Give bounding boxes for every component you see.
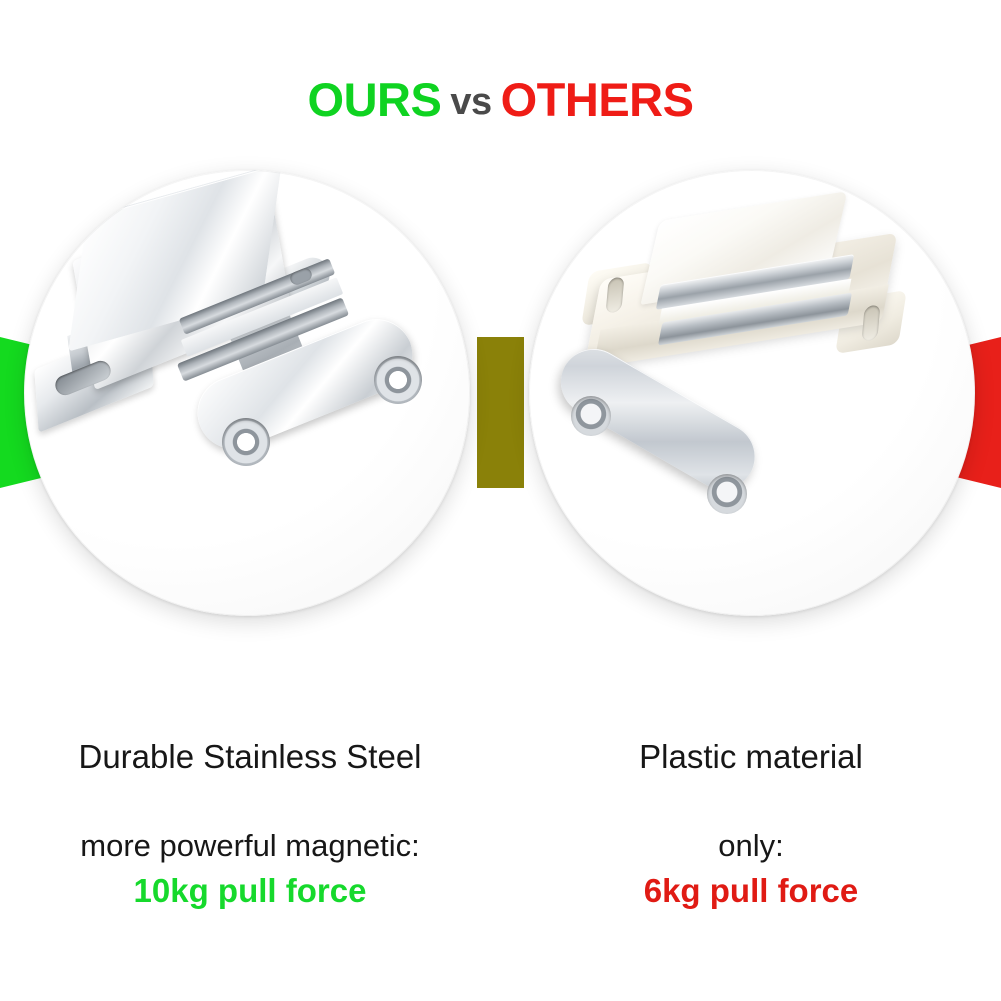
title-others: OTHERS [501,73,694,126]
product-photo-others [529,170,975,616]
plastic-catch-illustration [529,170,975,616]
subtitle-ours: more powerful magnetic: [0,830,500,861]
zinc-plate-hole-top [571,396,611,436]
infographic-canvas: OURSvsOTHERS [0,0,1001,1001]
stainless-steel-catch-illustration [24,170,470,616]
pull-force-ours: 10kg pull force [0,874,500,907]
pull-force-others: 6kg pull force [501,874,1001,907]
caption-others: Plastic material [501,740,1001,773]
ss-strike-plate-hole-bottom [222,418,270,466]
title-ours: OURS [308,73,442,126]
subtitle-others: only: [501,830,1001,861]
product-photo-ours [24,170,470,616]
title-vs: vs [441,81,500,123]
zinc-plate-hole-bottom [707,474,747,514]
page-title: OURSvsOTHERS [0,76,1001,123]
accent-band-center [477,337,524,488]
ss-strike-plate-hole-top [374,356,422,404]
caption-ours: Durable Stainless Steel [0,740,500,773]
